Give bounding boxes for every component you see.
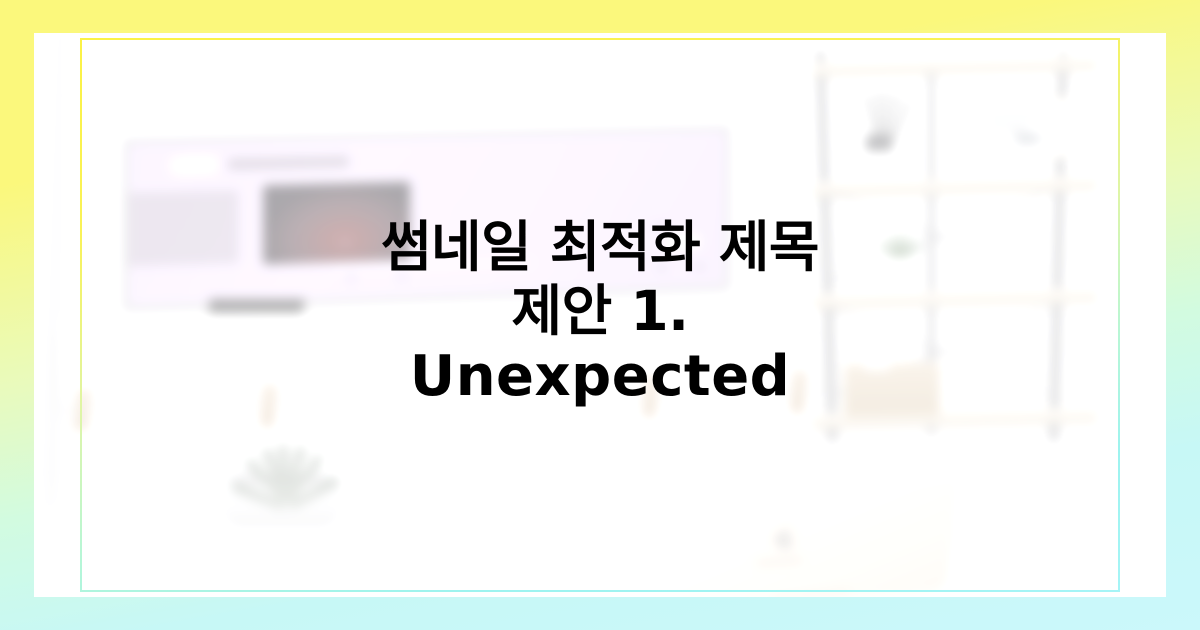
thumbnail-canvas: 썸네일 최적화 제목 제안 1. Unexpected (0, 0, 1200, 630)
title-block: 썸네일 최적화 제목 제안 1. Unexpected (0, 0, 1200, 630)
title-line-2: 제안 1. (511, 279, 688, 343)
title-line-1: 썸네일 최적화 제목 (381, 215, 819, 279)
title-line-3: Unexpected (410, 344, 791, 410)
